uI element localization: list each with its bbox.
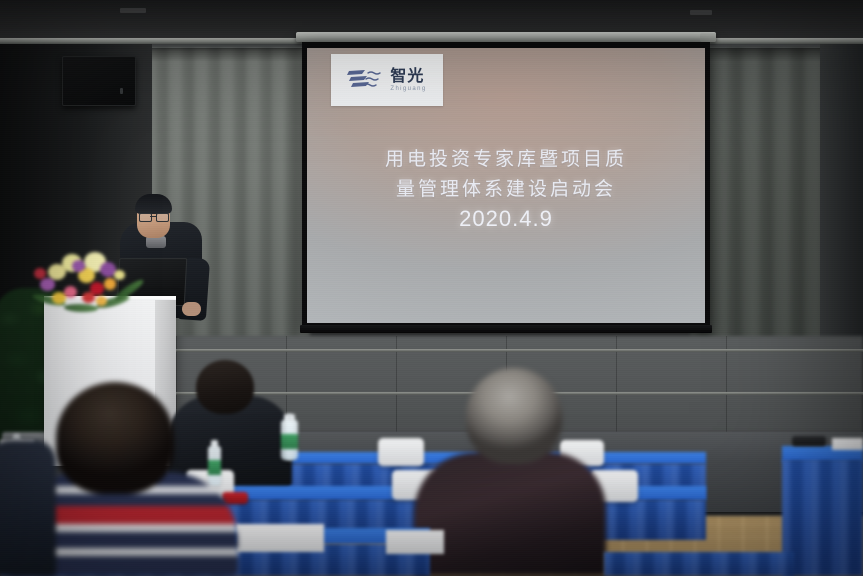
- screen-weight-bar: [300, 325, 712, 333]
- presenter-hand: [182, 302, 201, 316]
- logo-pinyin: Zhiguang: [390, 86, 426, 92]
- presenter-hair: [135, 194, 172, 214]
- slide-surface: 智光 Zhiguang 用电投资专家库暨项目质 量管理体系建设启动会 2020.…: [307, 48, 705, 323]
- dark-object-on-table: [792, 436, 826, 446]
- glasses-icon: [139, 213, 168, 220]
- speaker-mount: [120, 88, 123, 94]
- slide-title-line-1: 用电投资专家库暨项目质: [307, 144, 705, 174]
- slide-title-line-2: 量管理体系建设启动会: [307, 174, 705, 204]
- slide-date: 2020.4.9: [307, 206, 705, 232]
- chair-back: [378, 438, 424, 466]
- curtain-top-shadow: [150, 48, 310, 62]
- ceiling-vent-icon: [120, 8, 146, 13]
- table-skirt: [782, 460, 863, 576]
- logo-chinese-name: 智光: [390, 68, 424, 84]
- screen-housing-cap: [700, 33, 716, 42]
- zhiguang-stripes-logo-icon: [347, 67, 385, 93]
- conference-photo: 智光 Zhiguang 用电投资专家库暨项目质 量管理体系建设启动会 2020.…: [0, 0, 863, 576]
- table-skirt: [604, 552, 794, 576]
- logo-wordmark: 智光 Zhiguang: [390, 68, 426, 92]
- slide-logo-card: 智光 Zhiguang: [331, 54, 443, 106]
- projection-screen: 智光 Zhiguang 用电投资专家库暨项目质 量管理体系建设启动会 2020.…: [302, 42, 710, 332]
- wall-speaker-icon: [62, 56, 136, 106]
- slide-title: 用电投资专家库暨项目质 量管理体系建设启动会: [307, 144, 705, 204]
- ceiling-vent-icon: [690, 10, 712, 15]
- paper-sheet: [386, 530, 444, 554]
- water-bottle: [285, 420, 298, 460]
- screen-housing: [296, 32, 716, 42]
- paper-sheet: [236, 524, 324, 552]
- floral-arrangement: [34, 252, 154, 314]
- water-bottle: [208, 446, 221, 486]
- paper-sheet: [832, 438, 863, 450]
- wall-right-dark: [820, 44, 863, 344]
